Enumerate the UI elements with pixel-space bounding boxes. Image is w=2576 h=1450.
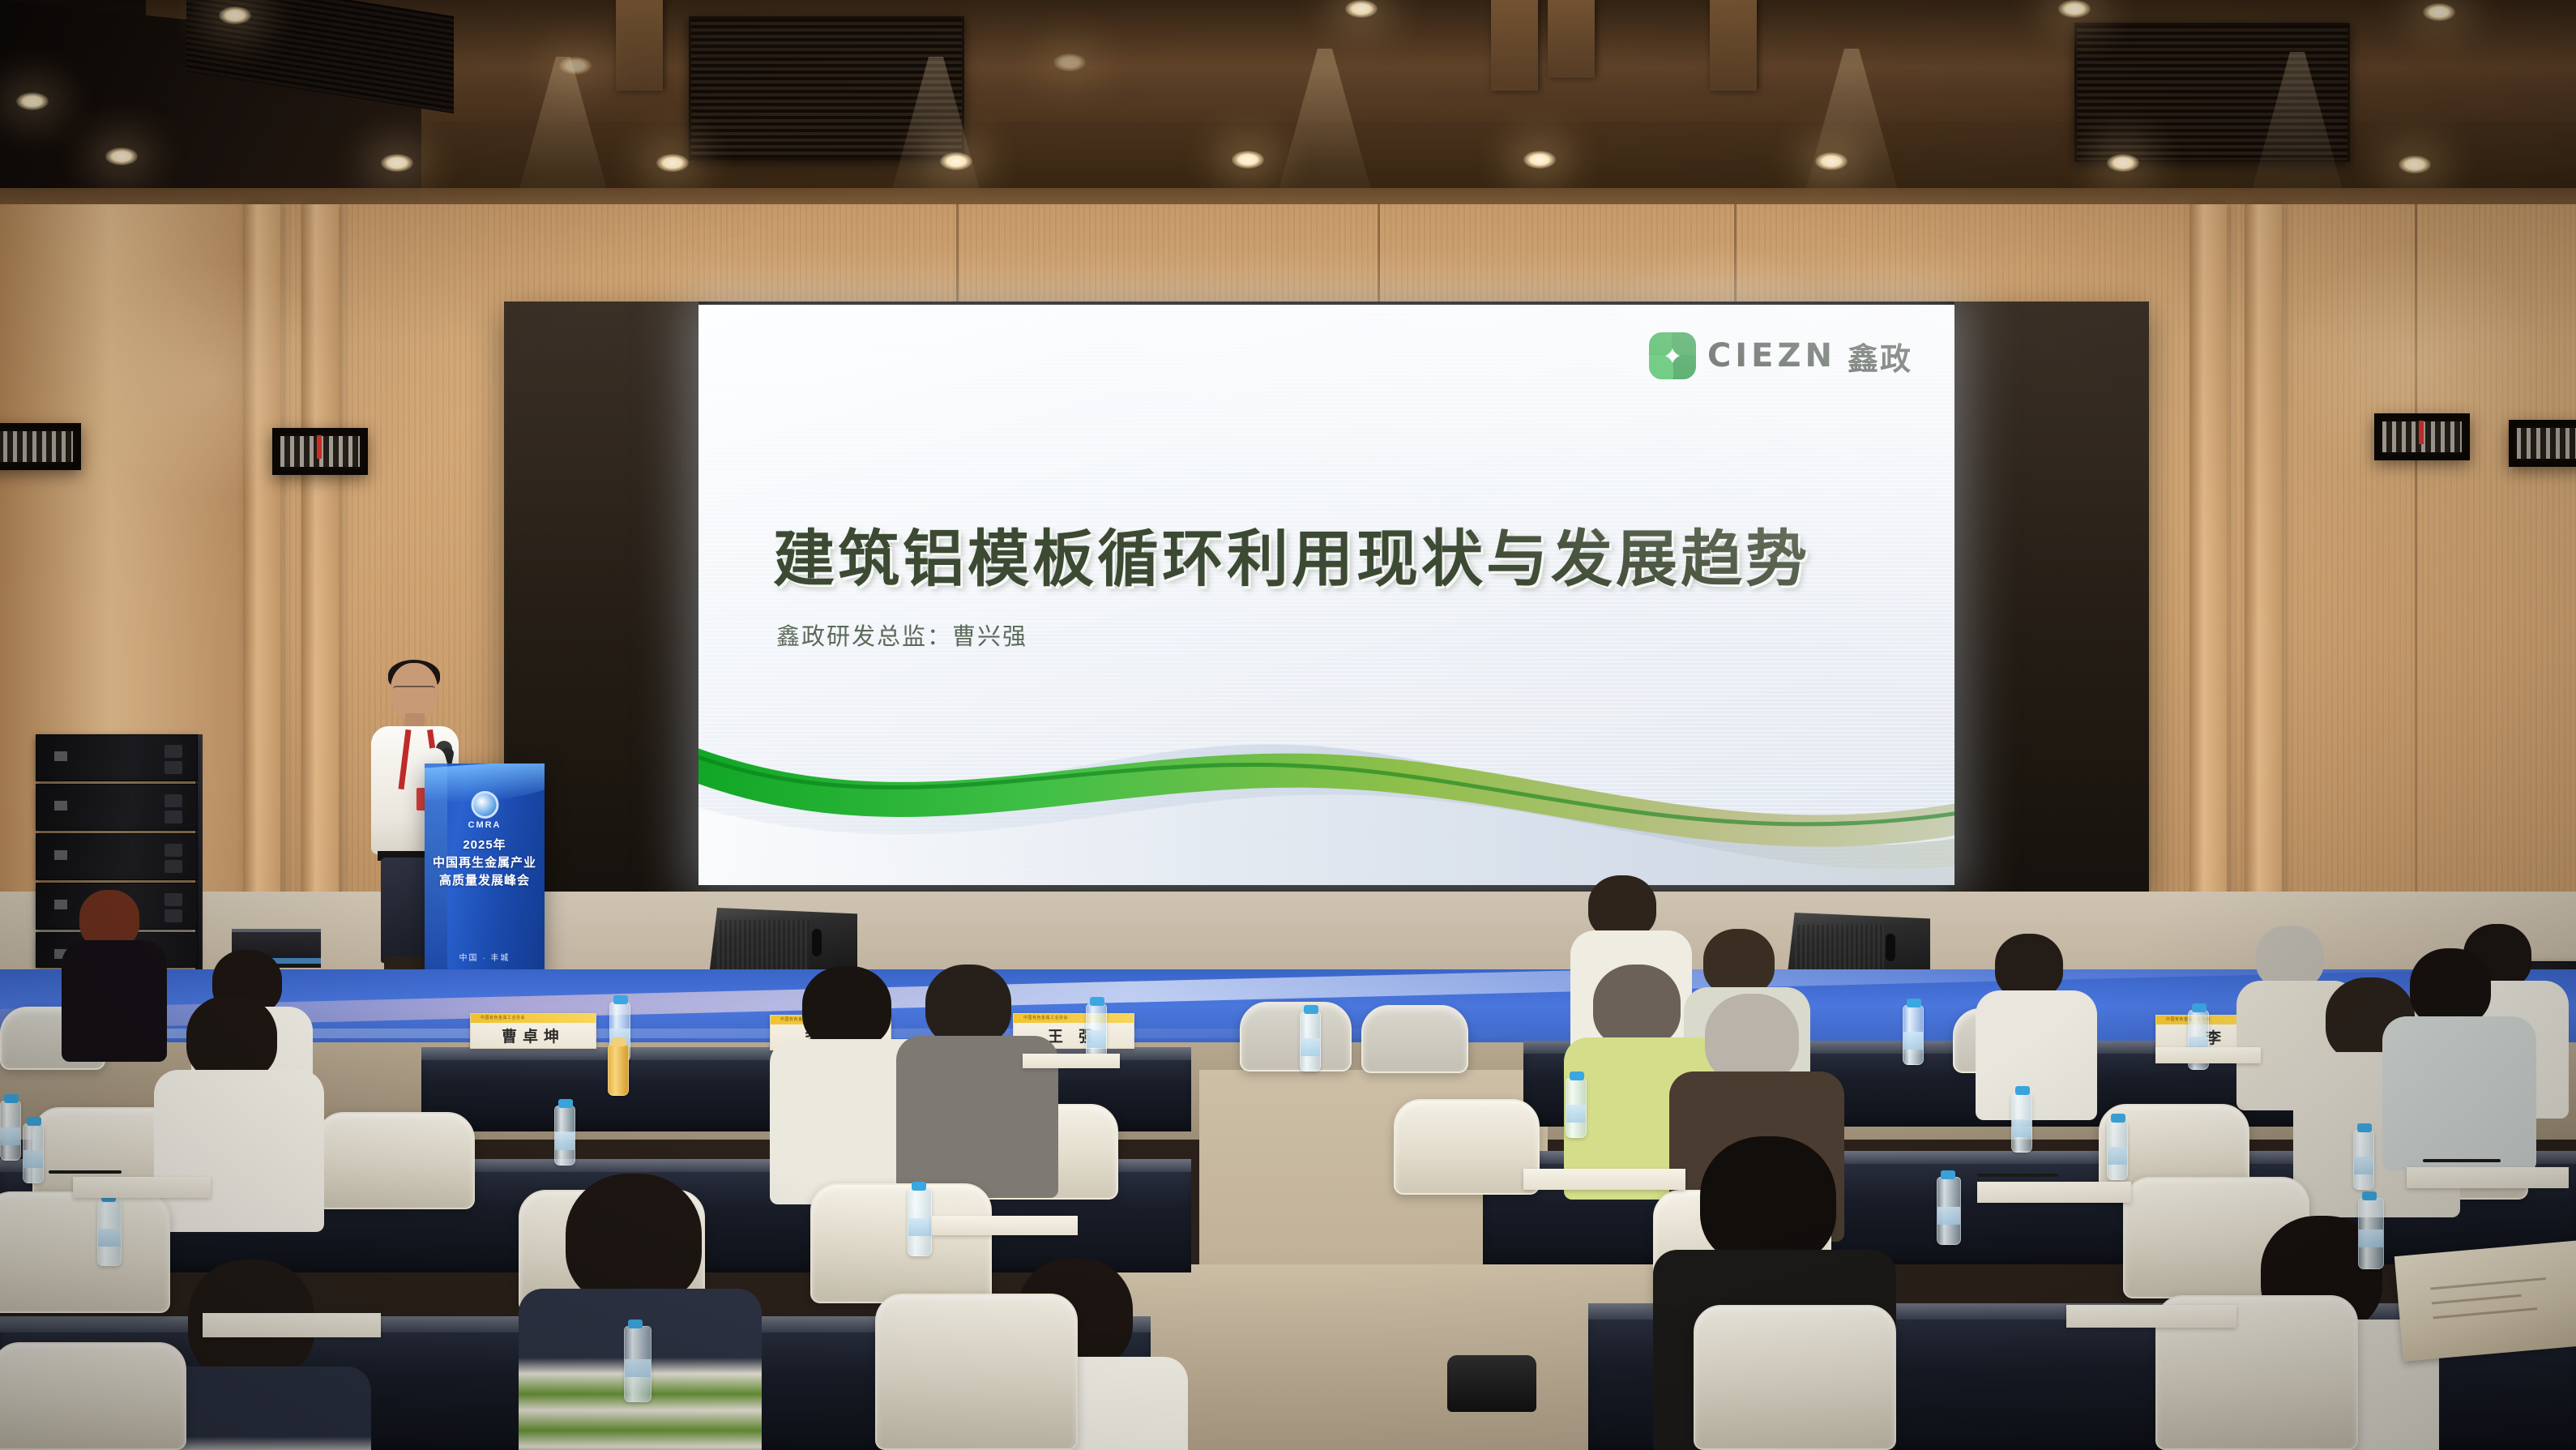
pen: [1977, 1174, 2058, 1177]
bag: [1447, 1355, 1536, 1412]
placard-strip: 中国有色金属工业协会: [471, 1014, 596, 1023]
chair: [1694, 1305, 1896, 1450]
wall-light-icon: [0, 423, 81, 470]
led-screen-assembly: CIEZN 鑫政 建筑铝模板循环利用现状与发展趋势 鑫政研发总监：曹兴强: [504, 302, 2149, 892]
downlight-icon: [1053, 53, 1086, 71]
downlight-icon: [1232, 151, 1264, 169]
downlight-icon: [656, 154, 689, 172]
ceiling-beam: [1710, 0, 1757, 91]
downlight-icon: [2399, 156, 2431, 173]
glasses-icon: [393, 686, 435, 696]
downlight-icon: [2058, 0, 2091, 18]
wall-pilaster: [301, 204, 339, 974]
water-bottle: [97, 1200, 122, 1266]
chair: [0, 1191, 170, 1313]
cmra-abbr: CMRA: [468, 820, 502, 830]
ceiling-beam: [1491, 0, 1538, 91]
brand-wordmark-cn: 鑫政: [1848, 334, 1912, 379]
chair: [316, 1112, 475, 1209]
wall-pilaster: [243, 204, 280, 974]
downlight-icon: [2107, 154, 2139, 172]
notepad: [2407, 1167, 2569, 1188]
water-bottle: [1937, 1177, 1961, 1245]
notepad: [932, 1216, 1078, 1235]
podium: CMRA 2025年 中国再生金属产业 高质量发展峰会 中国 · 丰城: [425, 763, 545, 976]
conference-hall-photo: CIEZN 鑫政 建筑铝模板循环利用现状与发展趋势 鑫政研发总监：曹兴强: [0, 0, 2576, 1450]
wall-pilaster: [2245, 204, 2282, 974]
water-bottle: [0, 1101, 21, 1161]
water-bottle: [2011, 1093, 2032, 1153]
downlight-icon: [940, 152, 972, 170]
pen: [2423, 1159, 2501, 1162]
ceiling-vent: [2074, 23, 2350, 162]
ciezn-pinwheel-icon: [1649, 332, 1696, 379]
notepad: [73, 1177, 211, 1198]
notepad: [2066, 1305, 2236, 1328]
slide-subtitle: 鑫政研发总监：曹兴强: [776, 618, 1027, 652]
pen: [49, 1170, 122, 1174]
downlight-icon: [2423, 3, 2455, 21]
program-booklet: [2394, 1240, 2576, 1362]
ceiling-beam: [1548, 0, 1595, 78]
downlight-icon: [1345, 0, 1378, 18]
wall-pilaster: [2189, 204, 2227, 974]
water-bottle: [23, 1123, 44, 1183]
water-bottle: [624, 1326, 651, 1402]
water-bottle: [2353, 1130, 2374, 1190]
water-bottle: [1903, 1005, 1924, 1065]
downlight-icon: [105, 148, 138, 165]
chair: [1240, 1002, 1352, 1071]
chair: [810, 1183, 992, 1303]
placard-name: 曹卓坤: [471, 1023, 596, 1048]
downlight-icon: [559, 57, 592, 75]
presentation-slide: CIEZN 鑫政 建筑铝模板循环利用现状与发展趋势 鑫政研发总监：曹兴强: [698, 305, 1954, 885]
chair: [1361, 1005, 1468, 1073]
water-bottle: [1300, 1012, 1321, 1071]
name-placard: 中国有色金属工业协会 曹卓坤: [470, 1013, 596, 1049]
chair: [0, 1342, 186, 1450]
notepad: [1523, 1169, 1685, 1190]
water-bottle: [908, 1188, 932, 1256]
cmra-logo: CMRA: [468, 791, 502, 830]
podium-line-3: 高质量发展峰会: [425, 872, 545, 890]
podium-line-2: 中国再生金属产业: [425, 854, 545, 872]
ceiling-vent: [689, 16, 964, 160]
wall-light-icon: [2509, 420, 2576, 467]
water-bottle: [2107, 1120, 2128, 1180]
cmra-ring-icon: [471, 791, 498, 819]
wall-light-icon: [272, 428, 368, 475]
tea-bottle: [608, 1044, 629, 1096]
slide-brand-logo: CIEZN 鑫政: [1649, 332, 1912, 379]
notepad: [2155, 1047, 2261, 1063]
chair: [875, 1294, 1078, 1450]
podium-title: 2025年 中国再生金属产业 高质量发展峰会: [425, 836, 545, 889]
wall-light-icon: [2374, 413, 2470, 460]
podium-location: 中国 · 丰城: [425, 951, 545, 963]
notepad: [1977, 1182, 2131, 1203]
notepad: [203, 1313, 381, 1337]
screen-side-panel-right: [1954, 302, 2149, 892]
notepad: [1023, 1054, 1120, 1068]
water-bottle: [554, 1106, 575, 1166]
ceiling-beam: [616, 0, 663, 91]
water-bottle: [1566, 1078, 1587, 1138]
brand-wordmark: CIEZN: [1707, 337, 1836, 374]
podium-line-1: 2025年: [425, 836, 545, 854]
water-bottle: [2358, 1198, 2384, 1269]
downlight-icon: [381, 154, 413, 172]
placard-strip: 中国有色金属工业协会: [1014, 1014, 1134, 1023]
downlight-icon: [219, 6, 251, 24]
chair: [1394, 1099, 1540, 1195]
downlight-icon: [16, 92, 49, 110]
downlight-icon: [1815, 152, 1848, 170]
slide-wave-graphic: [698, 650, 1954, 885]
slide-title: 建筑铝模板循环利用现状与发展趋势: [773, 509, 1810, 598]
downlight-icon: [1523, 151, 1556, 169]
